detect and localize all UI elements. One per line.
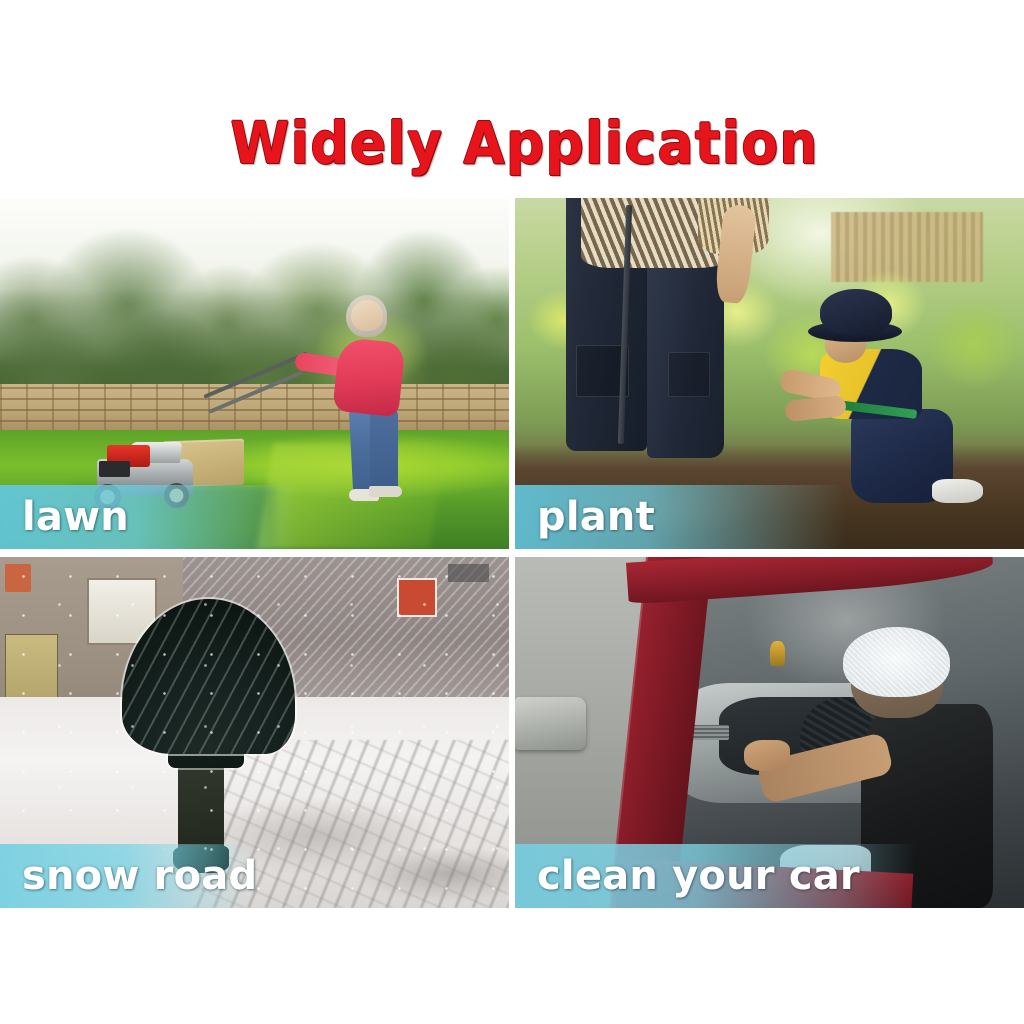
person-hand [744, 740, 790, 772]
person-head [351, 300, 383, 332]
caption-snow-road: snow road [0, 844, 257, 908]
panel-lawn[interactable]: lawn [0, 198, 512, 553]
mower-engine-block [99, 461, 130, 477]
caption-label: clean your car [537, 856, 860, 896]
title-area: Widely Application [0, 0, 1024, 198]
caption-label: plant [537, 497, 655, 537]
dashboard-charm [770, 641, 785, 666]
hairnet [843, 627, 950, 697]
caption-label: snow road [22, 856, 257, 896]
poster: Widely Application [0, 0, 1024, 1024]
child-bucket-hat [820, 289, 891, 335]
caption-plant: plant [515, 485, 655, 549]
person-leg-right [370, 409, 398, 493]
caption-lawn: lawn [0, 485, 129, 549]
page-title: Widely Application [205, 114, 819, 198]
caption-clean-your-car: clean your car [515, 844, 860, 908]
side-mirror [515, 697, 586, 750]
panel-plant[interactable]: plant [512, 198, 1024, 553]
child-shoe [932, 479, 983, 504]
panel-snow-road[interactable]: snow road [0, 553, 512, 908]
person-torso [332, 337, 405, 417]
photo-grid: lawn [0, 198, 1024, 908]
bottom-whitespace [0, 908, 1024, 1024]
person-shoe-right [369, 486, 402, 497]
caption-label: lawn [22, 497, 129, 537]
panel-clean-your-car[interactable]: clean your car [512, 553, 1024, 908]
adult-trouser-pocket-2 [668, 352, 711, 396]
